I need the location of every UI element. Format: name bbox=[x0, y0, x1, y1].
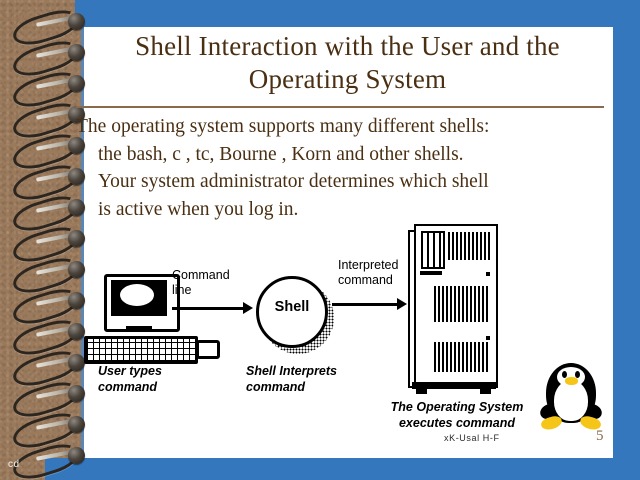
spiral-ring bbox=[6, 384, 84, 410]
spiral-ring bbox=[6, 415, 84, 441]
shell-label: Shell bbox=[256, 299, 328, 315]
spiral-ring bbox=[6, 353, 84, 379]
blue-border-right bbox=[613, 0, 640, 480]
spiral-ring bbox=[6, 322, 84, 348]
diagram-watermark: xK-Usal H-F bbox=[444, 433, 500, 443]
shell-flow-diagram: Command line Shell Interpreted command bbox=[84, 218, 554, 458]
spiral-ring bbox=[6, 291, 84, 317]
blue-border-bottom bbox=[45, 458, 640, 480]
spiral-ring bbox=[6, 105, 84, 131]
body-line-2: the bash, c , tc, Bourne , Korn and othe… bbox=[98, 141, 596, 169]
desktop-monitor-icon bbox=[100, 274, 178, 338]
tux-penguin-icon bbox=[538, 358, 604, 430]
caption-os-executes: The Operating System executes command bbox=[384, 400, 530, 431]
spiral-ring bbox=[6, 260, 84, 286]
spiral-ring bbox=[6, 198, 84, 224]
body-text: The operating system supports many diffe… bbox=[76, 113, 596, 224]
spiral-ring bbox=[6, 43, 84, 69]
spiral-ring bbox=[6, 136, 84, 162]
mouse-icon bbox=[196, 340, 220, 359]
spiral-ring bbox=[6, 229, 84, 255]
caption-user-types: User types command bbox=[98, 364, 162, 395]
title-divider bbox=[76, 106, 604, 108]
page-number: 5 bbox=[596, 428, 604, 445]
body-line-1: The operating system supports many diffe… bbox=[76, 113, 596, 141]
arrow-command-line bbox=[172, 307, 244, 310]
spiral-ring bbox=[6, 12, 84, 38]
page-title-line-2: Operating System bbox=[95, 63, 600, 96]
arrow-interpreted-command bbox=[332, 303, 398, 306]
spiral-ring bbox=[6, 167, 84, 193]
keyboard-icon bbox=[84, 336, 198, 364]
command-line-label: Command line bbox=[172, 268, 230, 298]
mainframe-icon bbox=[408, 224, 494, 394]
interpreted-command-label: Interpreted command bbox=[338, 258, 398, 288]
caption-shell-interprets: Shell Interprets command bbox=[246, 364, 337, 395]
slide: Shell Interaction with the User and the … bbox=[0, 0, 640, 480]
page-title: Shell Interaction with the User and the … bbox=[95, 30, 600, 96]
page-title-line-1: Shell Interaction with the User and the bbox=[95, 30, 600, 63]
body-line-3: Your system administrator determines whi… bbox=[98, 168, 596, 196]
spiral-ring bbox=[6, 74, 84, 100]
corner-label: cd bbox=[8, 459, 20, 470]
shell-node: Shell bbox=[256, 276, 328, 348]
blue-border-top bbox=[75, 0, 640, 27]
